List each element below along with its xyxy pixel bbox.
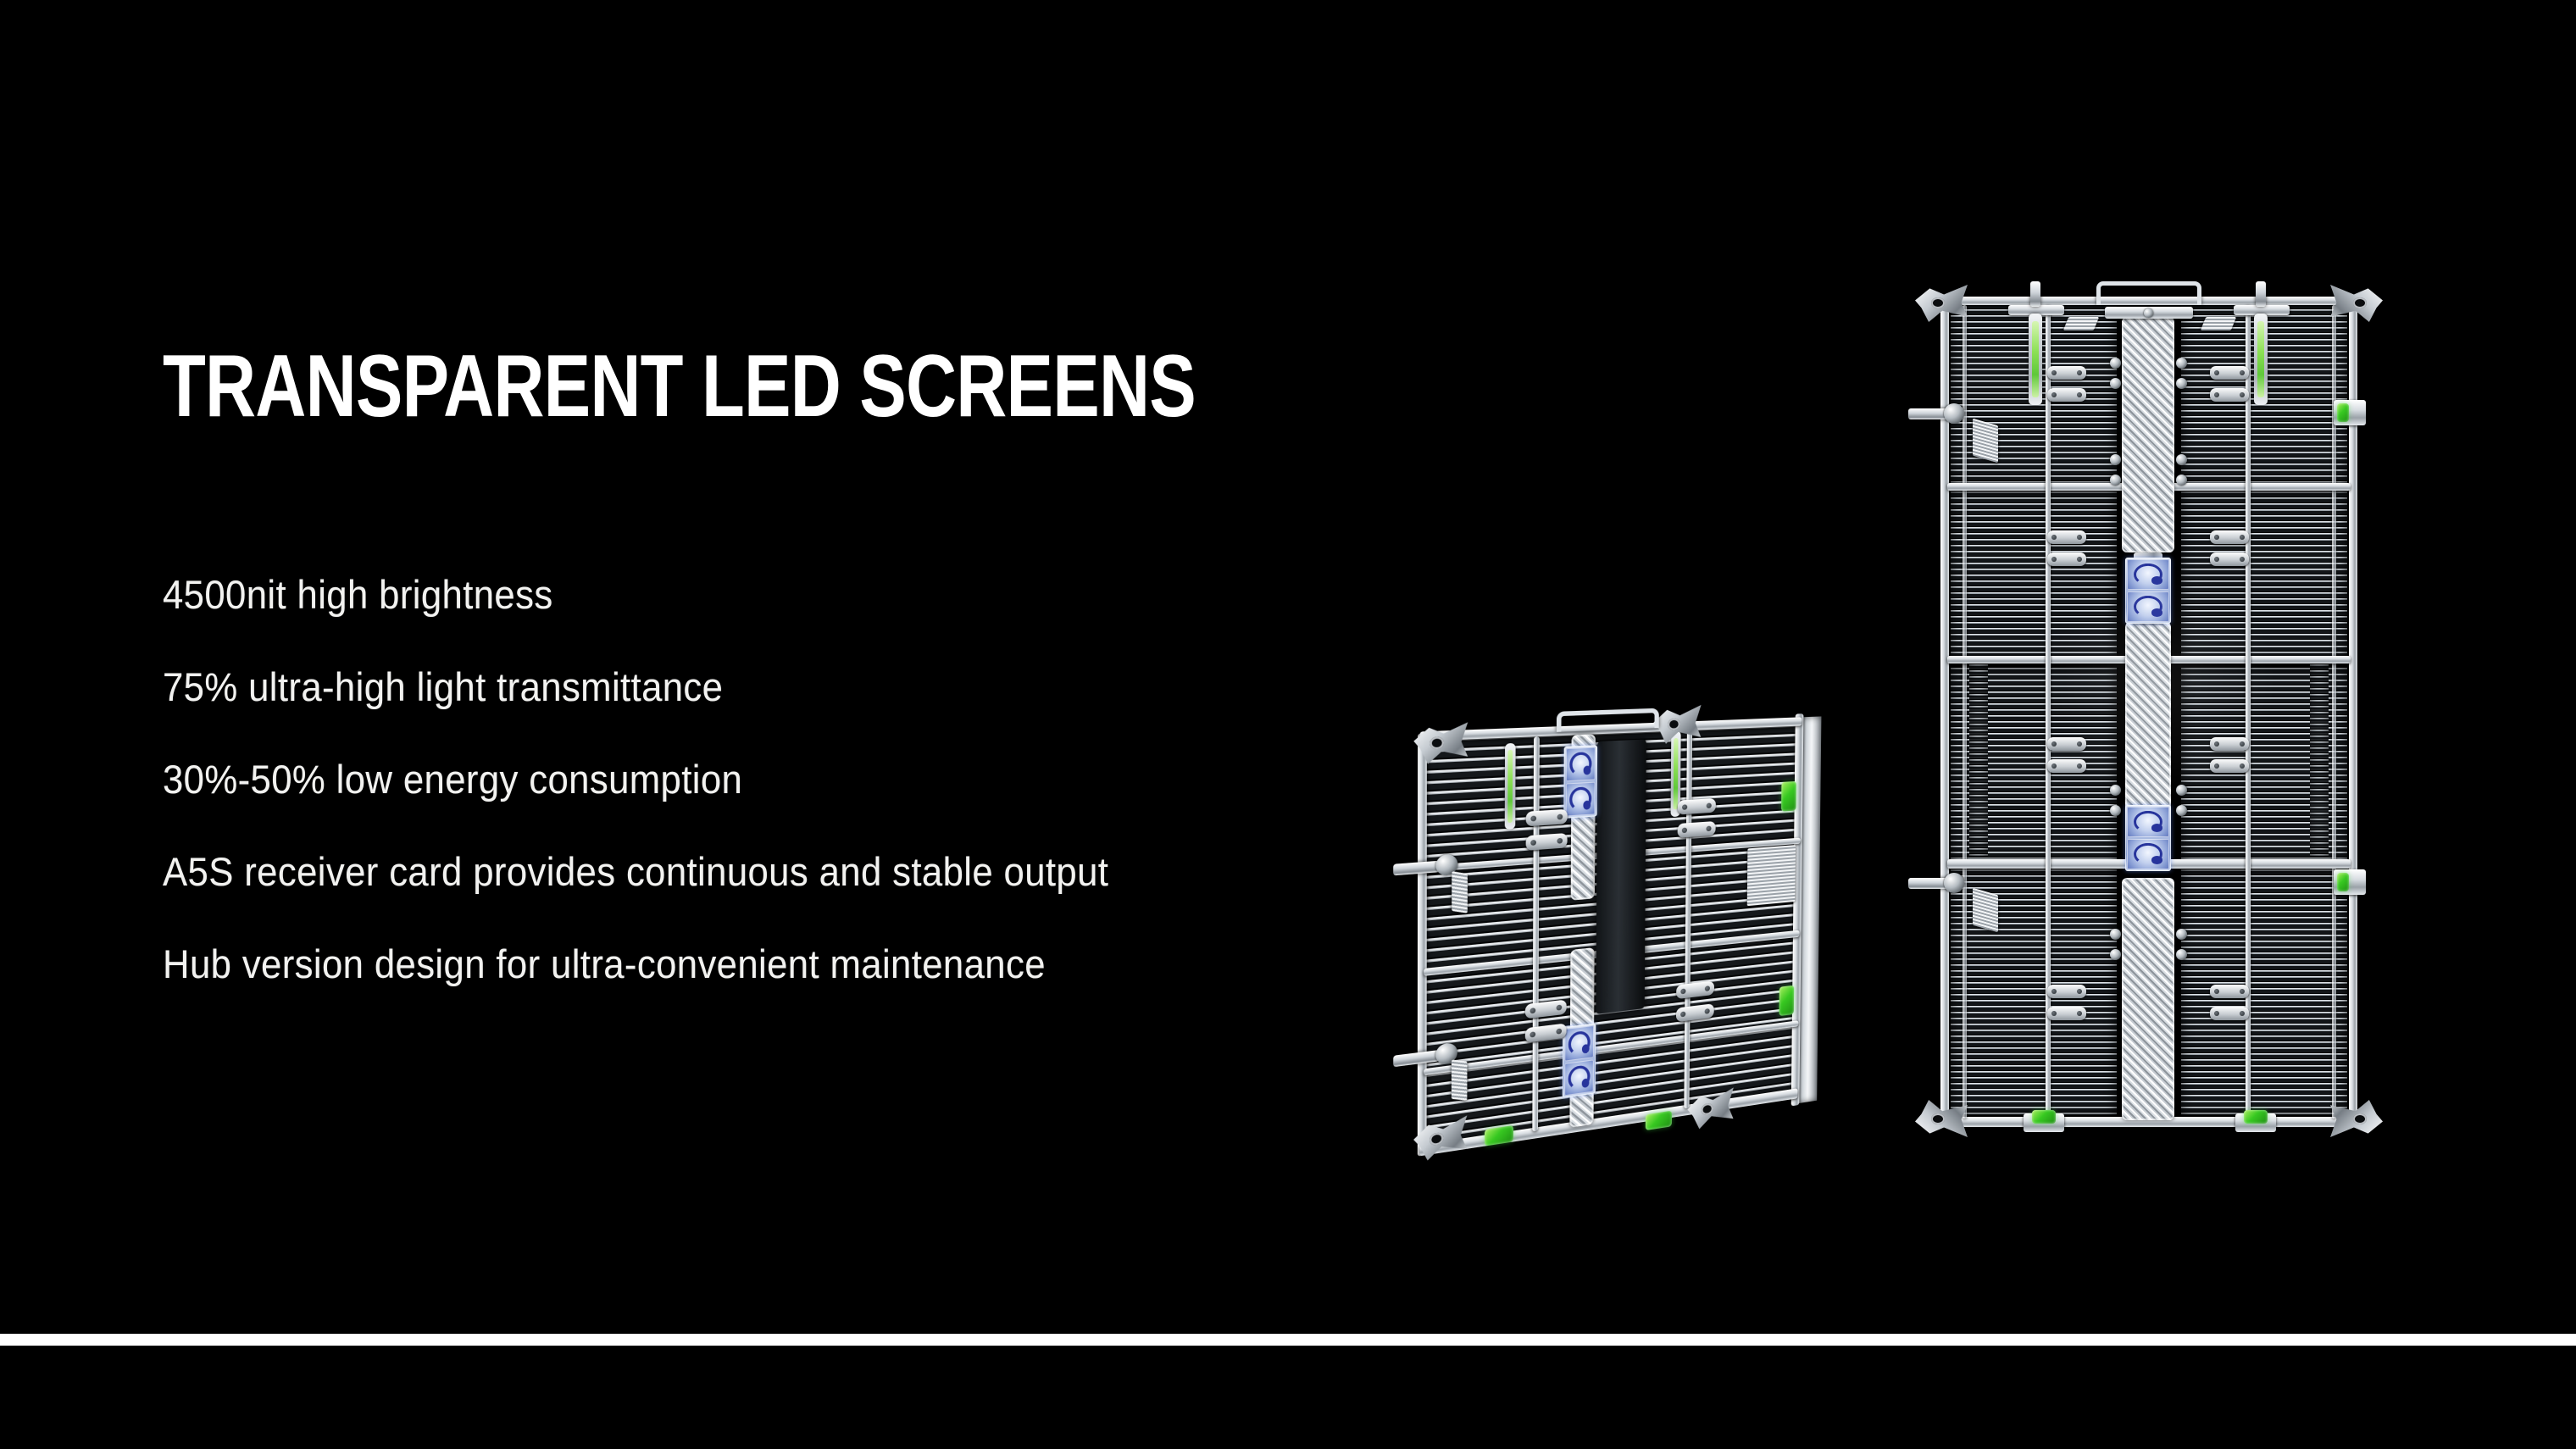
center-rail-middle (2125, 622, 2171, 813)
rail-bolt (2176, 805, 2187, 816)
rail-bolt (2110, 454, 2121, 465)
list-item: A5S receiver card provides continuous an… (163, 825, 1345, 918)
heatsink-fins (2181, 491, 2347, 659)
handle-bolt (2144, 308, 2153, 318)
bolt-plate (2047, 388, 2086, 402)
bolt-plate (2210, 759, 2249, 773)
quick-lock-right-top (1781, 781, 1796, 812)
spigot-bolt (1944, 403, 1964, 424)
list-item: Hub version design for ultra-convenient … (163, 918, 1345, 1010)
bolt-plate (1526, 809, 1568, 827)
louvre-tab (2063, 317, 2099, 330)
rail-bolt (2176, 358, 2187, 369)
list-item: 4500nit high brightness (163, 548, 1345, 641)
level-vial-right (2254, 314, 2268, 405)
bolt-plate (2210, 1007, 2249, 1020)
level-vial-left (1505, 743, 1516, 830)
power-connector-top (1563, 745, 1597, 819)
louvre-tab (1452, 1059, 1468, 1100)
rail-bolt (2110, 785, 2121, 796)
rail-bolt (2110, 358, 2121, 369)
bolt-plate (1678, 798, 1716, 815)
spigot-bolt (1944, 873, 1964, 893)
bolt-plate (2210, 388, 2249, 402)
rail-bolt (2176, 929, 2187, 940)
receiver-card-housing (1596, 739, 1646, 1013)
bolt-plate (2210, 530, 2249, 544)
power-connector-bottom (1563, 1023, 1596, 1097)
bolt-plate (2210, 366, 2249, 380)
rail-bolt (2176, 378, 2187, 389)
feature-list: 4500nit high brightness 75% ultra-high l… (163, 548, 1434, 1010)
rail-bolt (2110, 475, 2121, 486)
list-item: 75% ultra-high light transmittance (163, 641, 1345, 733)
carry-handle (2096, 281, 2201, 305)
rail-bolt (2110, 805, 2121, 816)
louvre-tab (1452, 871, 1468, 913)
list-item: 30%-50% low energy consumption (163, 733, 1345, 825)
bolt-plate (2047, 759, 2086, 773)
quick-lock-bottom-right (1646, 1111, 1672, 1130)
bolt-plate (2047, 552, 2086, 566)
rail-bolt (2176, 475, 2187, 486)
rail-bolt (2176, 785, 2187, 796)
rail-bolt (2176, 949, 2187, 960)
louvre-tab (1973, 419, 1998, 464)
bolt-plate (1678, 821, 1716, 838)
rail-bolt (2110, 378, 2121, 389)
bolt-plate (2047, 985, 2086, 998)
vent-grille (1747, 845, 1796, 906)
latch-pin (2256, 281, 2266, 307)
quick-lock-right-lower (2337, 873, 2349, 891)
edge-fin-strip-right (2310, 664, 2329, 858)
bolt-plate (2210, 985, 2249, 998)
bolt-plate (2047, 530, 2086, 544)
inner-frame-left (1963, 305, 1967, 1119)
bolt-plate (2210, 737, 2249, 751)
quick-lock-right-bottom (1779, 985, 1795, 1016)
louvre-tab (2201, 317, 2236, 330)
rail-bolt (2110, 949, 2121, 960)
heatsink-fins (2181, 869, 2347, 1115)
bolt-plate (2047, 366, 2086, 380)
edge-fin-strip-left (1969, 664, 1988, 858)
frame-edge-left (1940, 298, 1949, 1125)
page-title: TRANSPARENT LED SCREENS (163, 342, 1180, 430)
center-rail-upper (2122, 317, 2174, 552)
rail-bolt (2110, 929, 2121, 940)
led-cabinet-rear-angled (1407, 701, 1833, 1183)
louvre-tab (1973, 888, 1998, 933)
quick-lock-bottom-left (2032, 1110, 2056, 1124)
frame-edge-left (1418, 733, 1427, 1156)
quick-lock-bottom-left (1485, 1125, 1513, 1146)
quick-lock-bottom-right (2244, 1110, 2268, 1124)
led-cabinet-rear-frontal (1922, 285, 2376, 1176)
bolt-plate (1526, 833, 1568, 851)
quick-lock-right-upper (2337, 403, 2349, 422)
bolt-plate (2047, 737, 2086, 751)
power-connector-bottom (2125, 805, 2171, 871)
carry-handle (1557, 708, 1659, 732)
heatsink-fins (1951, 491, 2117, 659)
center-rail-lower (2122, 878, 2174, 1120)
bottom-rule (0, 1334, 2576, 1346)
inner-frame-right (2332, 305, 2336, 1119)
rail-bolt (2176, 454, 2187, 465)
latch-pin (2030, 281, 2040, 307)
bolt-plate (2210, 552, 2249, 566)
level-vial-left (2029, 314, 2042, 405)
bolt-plate (2047, 1007, 2086, 1020)
text-column: TRANSPARENT LED SCREENS 4500nit high bri… (163, 342, 1434, 430)
power-connector-top (2125, 558, 2171, 624)
